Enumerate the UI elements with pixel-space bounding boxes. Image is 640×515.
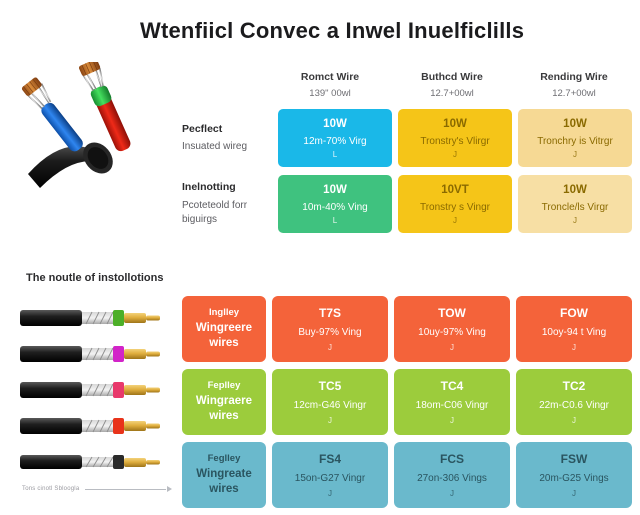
coax-connector-icon: [18, 447, 168, 477]
row-label-top: Feglley: [208, 453, 241, 465]
connector-thumbnail-stack: [18, 300, 173, 480]
cell-detail: 10oy-94 t Ving: [542, 326, 606, 339]
cell-value: FS4: [319, 452, 341, 466]
cell-detail: 18om-C06 Vingr: [416, 399, 489, 412]
row-label-sub: Insuated wireg: [182, 140, 264, 155]
cell-detail: 10m-40% Ving: [302, 201, 367, 214]
connector-thumbnail-row[interactable]: [18, 336, 173, 372]
matrix-cell[interactable]: 10W Troncle/ls Virgr J: [518, 175, 632, 233]
cell-value: FSW: [561, 452, 588, 466]
column-header-sub: 12.7+00wl: [516, 88, 632, 101]
cell-detail: 22m-C0.6 Vingr: [539, 399, 609, 412]
upper-comparison-matrix: Romct Wire 139" 00wl Buthcd Wire 12.7+00…: [182, 70, 632, 233]
row-label-main: Wingraere wires: [186, 394, 262, 424]
lower-matrix-cell[interactable]: FOW 10oy-94 t Ving J: [516, 296, 632, 362]
cell-detail: Buy-97% Ving: [298, 326, 361, 339]
row-label-title: Pecflect: [182, 122, 264, 137]
row-label-main: Wingreate wires: [186, 467, 262, 497]
cell-value: TC2: [563, 379, 586, 393]
cell-value: 10W: [323, 117, 347, 131]
cell-mark: J: [453, 217, 457, 225]
lower-matrix-cell[interactable]: TOW 10uy-97% Ving J: [394, 296, 510, 362]
matrix-cell[interactable]: 10W Tronstry's Vlirgr J: [398, 109, 512, 167]
cell-mark: J: [572, 344, 576, 352]
cable-cutaway-illustration: [12, 62, 182, 192]
coax-connector-icon: [18, 411, 168, 441]
lower-matrix-row: Feglley Wingreate wires FS4 15on-G27 Vin…: [182, 442, 632, 508]
connector-thumbnail-row[interactable]: [18, 372, 173, 408]
footnote-text: Tons cinotl Sbloogla: [22, 486, 79, 492]
cell-mark: J: [453, 151, 457, 159]
cell-value: 10W: [563, 183, 587, 197]
cell-value: 10W: [563, 117, 587, 131]
page-title: Wtenfiicl Convec a Inwel Inuelficlills: [140, 18, 560, 44]
cell-value: FOW: [560, 306, 588, 320]
column-header-sub: 139" 00wl: [272, 88, 388, 101]
cell-mark: J: [328, 344, 332, 352]
row-label-inglley[interactable]: Inglley Wingreere wires: [182, 296, 266, 362]
matrix-cell[interactable]: 10VT Tronstry s Vingr J: [398, 175, 512, 233]
footnote: Tons cinotl Sbloogla: [22, 486, 172, 492]
row-label-feglley[interactable]: Feglley Wingreate wires: [182, 442, 266, 508]
cell-detail: Tronstry's Vlirgr: [420, 135, 489, 148]
column-header-rending-wire: Rending Wire 12.7+00wl: [516, 70, 632, 101]
coax-connector-icon: [18, 375, 168, 405]
section-caption: The noutle of instollotions: [26, 272, 163, 284]
upper-matrix-column-headers: Romct Wire 139" 00wl Buthcd Wire 12.7+00…: [272, 70, 632, 101]
column-header-title: Rending Wire: [516, 70, 632, 84]
cell-detail: 12m-70% Virg: [303, 135, 366, 148]
cell-detail: 15on-G27 Vingr: [295, 472, 365, 485]
cell-value: T7S: [319, 306, 341, 320]
cell-detail: Troncle/ls Virgr: [542, 201, 609, 214]
connector-thumbnail-row[interactable]: [18, 444, 173, 480]
row-label-top: Inglley: [209, 307, 239, 319]
lower-comparison-matrix: Inglley Wingreere wires T7S Buy-97% Ving…: [182, 296, 632, 515]
cell-value: TOW: [438, 306, 466, 320]
column-header-title: Buthcd Wire: [394, 70, 510, 84]
lower-matrix-cell[interactable]: TC2 22m-C0.6 Vingr J: [516, 369, 632, 435]
cell-mark: J: [328, 417, 332, 425]
matrix-row: Pecflect Insuated wireg 10W 12m-70% Virg…: [182, 109, 632, 167]
cell-mark: J: [450, 490, 454, 498]
cell-mark: J: [450, 417, 454, 425]
cell-detail: 12cm-G46 Vingr: [294, 399, 367, 412]
lower-matrix-cell[interactable]: FCS 27on-306 Vings J: [394, 442, 510, 508]
cell-mark: L: [333, 151, 337, 159]
cell-mark: J: [573, 217, 577, 225]
cell-detail: Tronchry is Vitrgr: [537, 135, 613, 148]
matrix-cell[interactable]: 10W 12m-70% Virg L: [278, 109, 392, 167]
connector-thumbnail-row[interactable]: [18, 408, 173, 444]
matrix-row: Inelnotting Pcoteteold forr biguirgs 10W…: [182, 175, 632, 233]
cell-detail: Tronstry s Vingr: [420, 201, 490, 214]
cell-value: TC4: [441, 379, 464, 393]
cell-detail: 20m-G25 Vings: [539, 472, 608, 485]
cell-detail: 10uy-97% Ving: [418, 326, 486, 339]
column-header-sub: 12.7+00wl: [394, 88, 510, 101]
cell-value: TC5: [319, 379, 342, 393]
lower-matrix-cell[interactable]: T7S Buy-97% Ving J: [272, 296, 388, 362]
row-label-title: Inelnotting: [182, 180, 264, 195]
coax-connector-icon: [18, 339, 168, 369]
lower-matrix-cell[interactable]: TC4 18om-C06 Vingr J: [394, 369, 510, 435]
row-label-feplley[interactable]: Feplley Wingraere wires: [182, 369, 266, 435]
column-header-title: Romct Wire: [272, 70, 388, 84]
cell-detail: 27on-306 Vings: [417, 472, 487, 485]
lower-matrix-cell[interactable]: FSW 20m-G25 Vings J: [516, 442, 632, 508]
lower-matrix-row: Feplley Wingraere wires TC5 12cm-G46 Vin…: [182, 369, 632, 435]
connector-thumbnail-row[interactable]: [18, 300, 173, 336]
row-label-top: Feplley: [208, 380, 241, 392]
lower-matrix-cell[interactable]: FS4 15on-G27 Vingr J: [272, 442, 388, 508]
arrow-right-icon: [85, 486, 172, 492]
row-label-main: Wingreere wires: [186, 321, 262, 351]
row-label-inelnotting: Inelnotting Pcoteteold forr biguirgs: [182, 175, 272, 233]
lower-matrix-cell[interactable]: TC5 12cm-G46 Vingr J: [272, 369, 388, 435]
cell-mark: J: [572, 417, 576, 425]
cell-mark: J: [328, 490, 332, 498]
matrix-cell[interactable]: 10W Tronchry is Vitrgr J: [518, 109, 632, 167]
row-label-sub: Pcoteteold forr biguirgs: [182, 199, 264, 228]
cell-mark: J: [573, 151, 577, 159]
cell-value: FCS: [440, 452, 464, 466]
column-header-buthcd-wire: Buthcd Wire 12.7+00wl: [394, 70, 510, 101]
cell-value: 10W: [323, 183, 347, 197]
matrix-cell[interactable]: 10W 10m-40% Ving L: [278, 175, 392, 233]
cell-mark: J: [450, 344, 454, 352]
column-header-romct-wire: Romct Wire 139" 00wl: [272, 70, 388, 101]
coax-connector-icon: [18, 303, 168, 333]
cell-mark: J: [572, 490, 576, 498]
lower-matrix-row: Inglley Wingreere wires T7S Buy-97% Ving…: [182, 296, 632, 362]
cell-value: 10W: [443, 117, 467, 131]
cell-value: 10VT: [441, 183, 469, 197]
cell-mark: L: [333, 217, 337, 225]
row-label-pecflect: Pecflect Insuated wireg: [182, 109, 272, 167]
